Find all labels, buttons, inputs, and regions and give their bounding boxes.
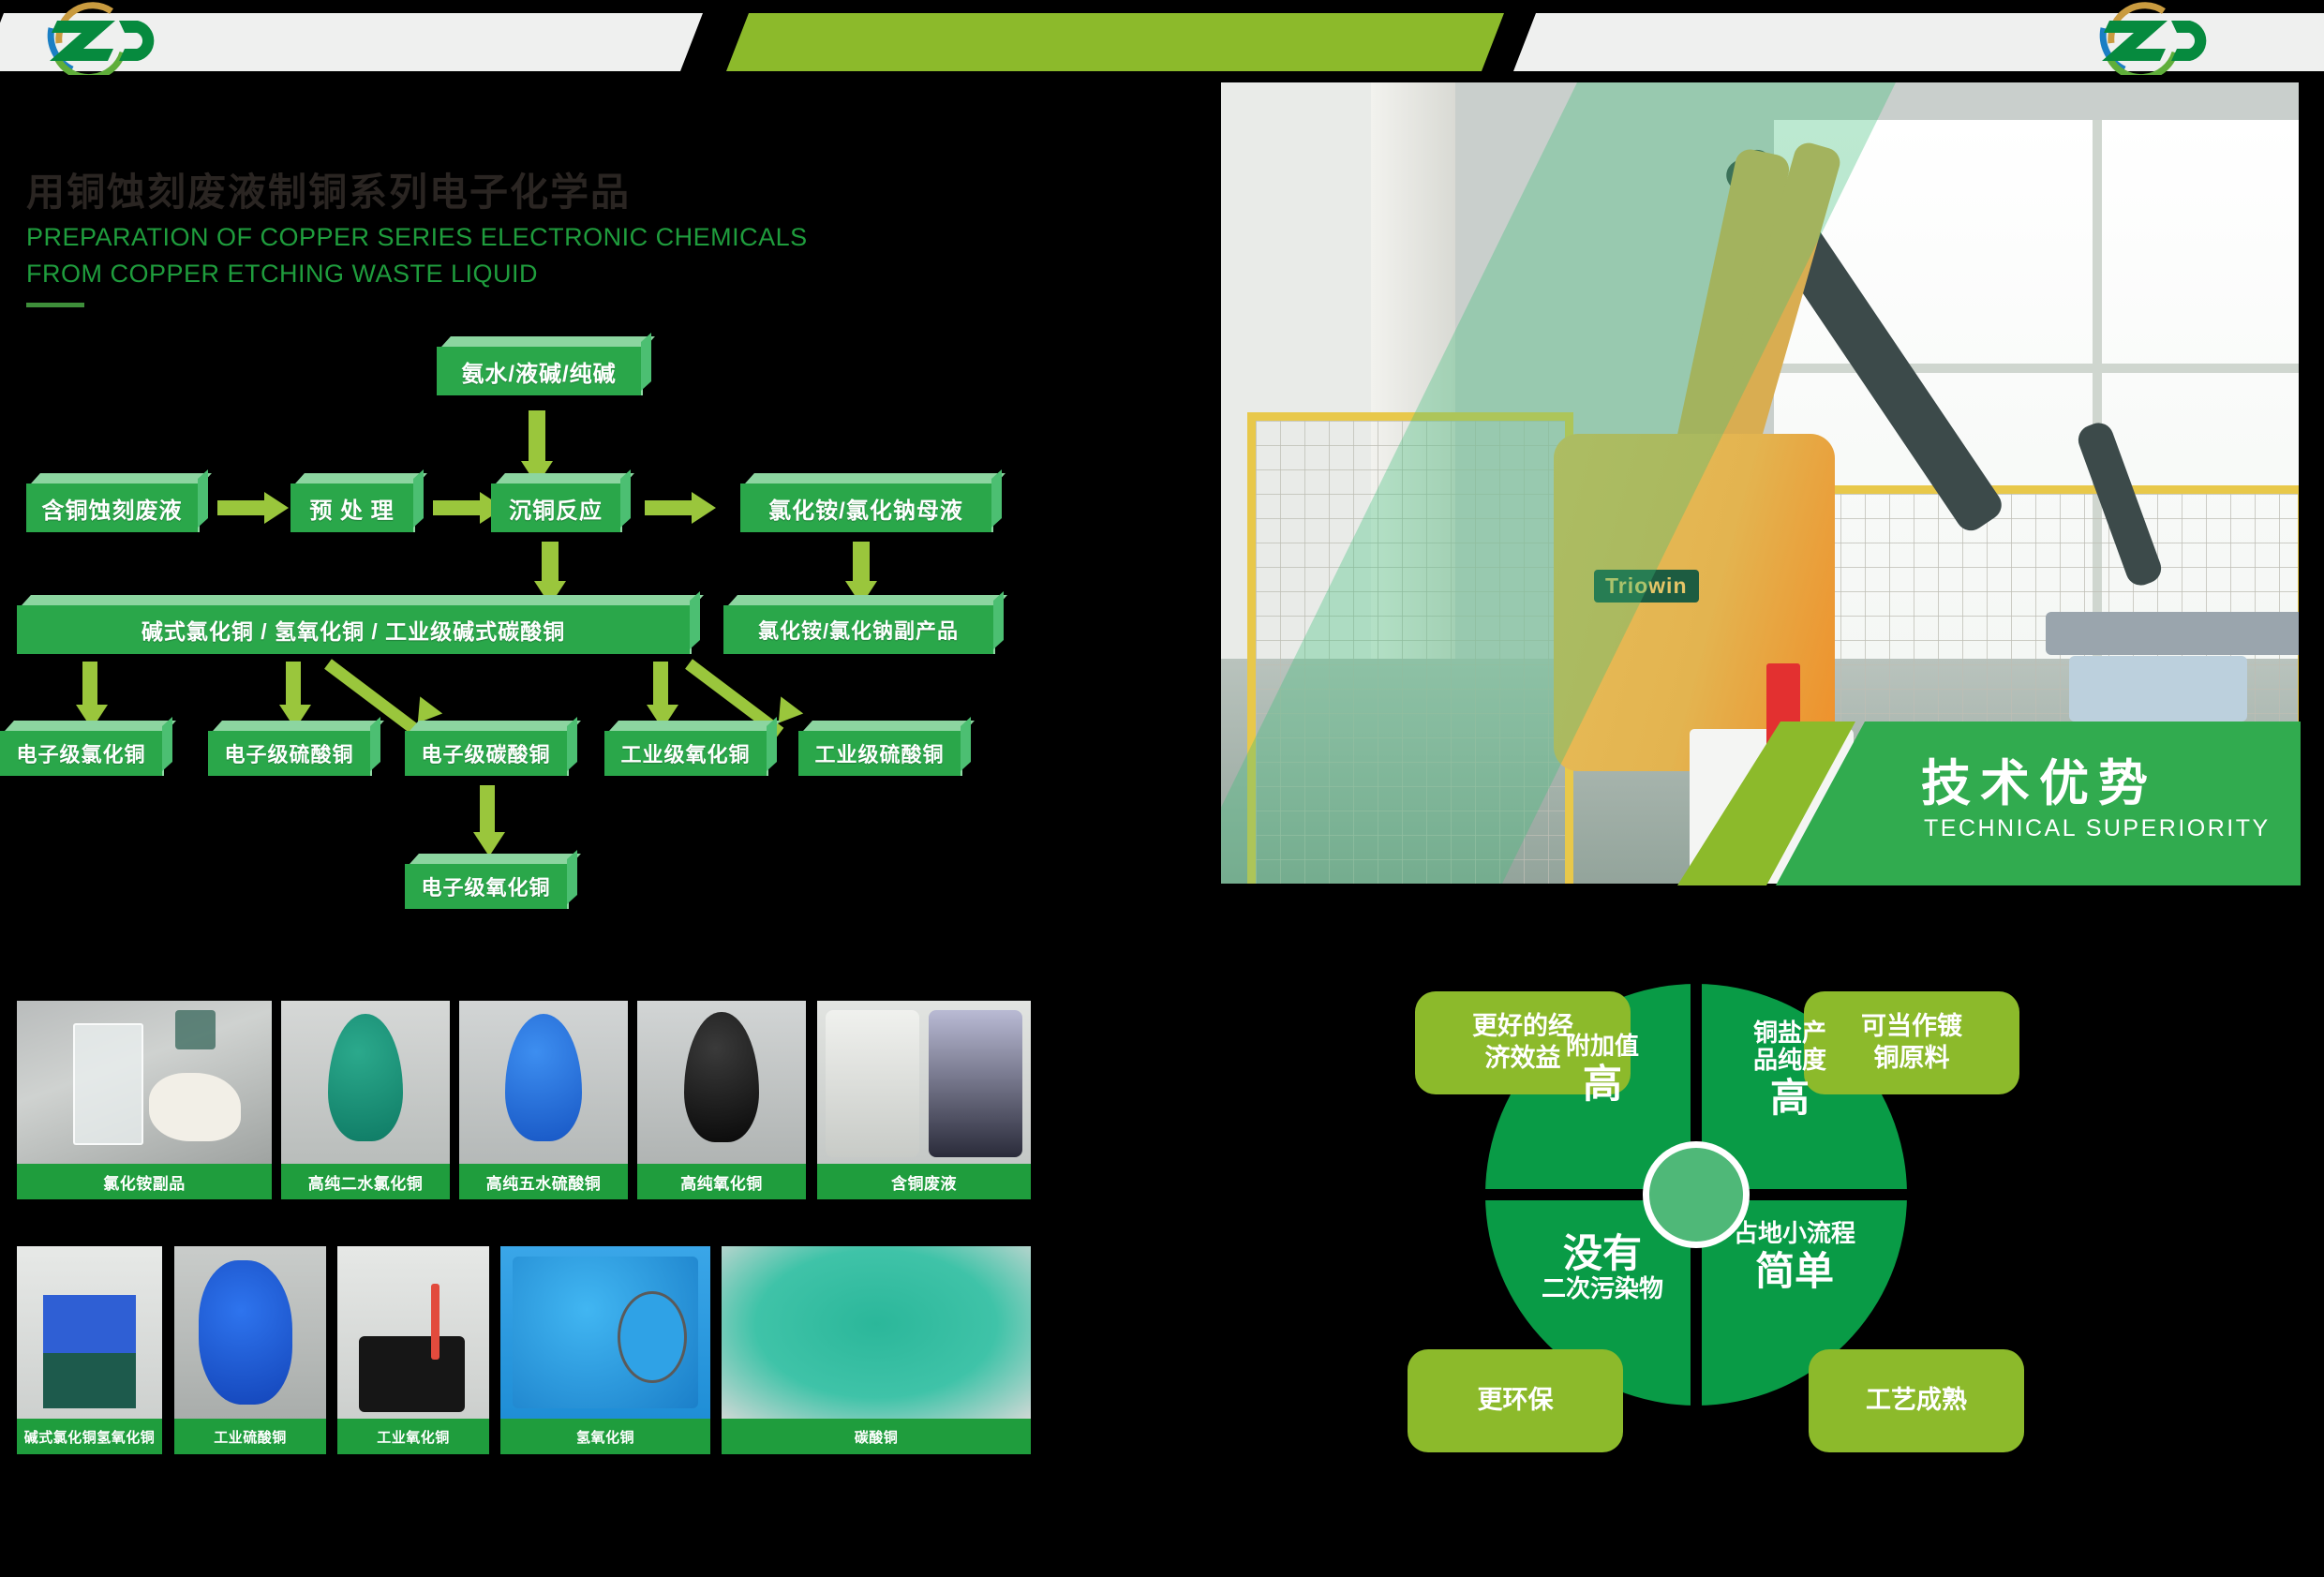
flow-arrowhead-3	[692, 492, 716, 524]
wheel-label-line2: 品纯度	[1710, 1047, 1870, 1074]
product-photo[interactable]: 氢氧化铜	[500, 1246, 710, 1454]
pill-label: 工艺成熟	[1866, 1385, 1967, 1417]
flow-node-i-cuo: 工业级氧化铜	[604, 731, 768, 776]
flow-node-label: 沉铜反应	[509, 492, 603, 525]
product-photo[interactable]: 碱式氯化铜氢氧化铜	[17, 1246, 162, 1454]
flow-node-intermediates: 碱式氯化铜 / 氢氧化铜 / 工业级碱式碳酸铜	[17, 605, 692, 654]
flow-arrow-right-2	[433, 500, 484, 515]
banner-strip-green	[726, 13, 1504, 71]
product-photo[interactable]: 高纯二水氯化铜	[281, 1001, 450, 1199]
flow-node-label: 电子级氯化铜	[16, 738, 145, 768]
title-underline	[26, 303, 84, 307]
product-photo[interactable]: 工业氧化铜	[337, 1246, 489, 1454]
photo-caption: 工业氧化铜	[337, 1419, 489, 1454]
flow-node-label: 电子级氧化铜	[421, 871, 550, 901]
photo-caption: 氯化铵副品	[17, 1164, 272, 1199]
photo-caption: 氢氧化铜	[500, 1419, 710, 1454]
flow-node-pretreatment: 预 处 理	[290, 484, 415, 532]
flow-node-label: 氯化铵/氯化钠副产品	[758, 615, 959, 645]
poster-root: 用铜蚀刻废液制铜系列电子化学品 PREPARATION OF COPPER SE…	[0, 0, 2324, 1577]
product-photo[interactable]: 氯化铵副品	[17, 1001, 272, 1199]
flow-arrowhead-1	[264, 492, 289, 524]
flow-node-label: 电子级硫酸铜	[224, 738, 353, 768]
flow-arrow-right-1	[217, 500, 268, 515]
product-photo[interactable]: 碳酸铜	[722, 1246, 1031, 1454]
top-banner	[0, 13, 2324, 71]
product-photo[interactable]: 工业硫酸铜	[174, 1246, 326, 1454]
photo-image	[174, 1246, 326, 1419]
photo-caption: 高纯氧化铜	[637, 1164, 806, 1199]
photo-caption: 碱式氯化铜氢氧化铜	[17, 1419, 162, 1454]
wheel-label-small-area: 占地小流程 简单	[1710, 1220, 1879, 1293]
flow-node-e-cuo: 电子级氧化铜	[405, 864, 569, 909]
photo-image	[637, 1001, 806, 1164]
photo-image	[500, 1246, 710, 1419]
photo-image	[281, 1001, 450, 1164]
photo-image	[722, 1246, 1031, 1419]
bag-in-gripper	[2069, 656, 2247, 722]
flow-node-label: 含铜蚀刻废液	[42, 492, 183, 525]
flow-arrow-down-precip	[542, 542, 559, 587]
flow-arrow-down-b	[286, 662, 301, 710]
pill-label: 更环保	[1478, 1385, 1554, 1417]
photo-image	[817, 1001, 1031, 1164]
flow-node-label: 氨水/液碱/纯碱	[461, 355, 616, 388]
photo-caption: 高纯五水硫酸铜	[459, 1164, 628, 1199]
wheel-label-salt-purity: 铜盐产 品纯度 高	[1710, 1019, 1870, 1120]
flow-node-byproduct: 氯化铵/氯化钠副产品	[723, 605, 995, 654]
flow-arrow-down-mother	[853, 542, 870, 587]
flow-arrow-right-3	[645, 500, 695, 515]
flow-node-label: 碱式氯化铜 / 氢氧化铜 / 工业级碱式碳酸铜	[142, 614, 565, 646]
product-photo[interactable]: 高纯五水硫酸铜	[459, 1001, 628, 1199]
wheel-label-line1: 铜盐产	[1710, 1019, 1870, 1047]
flow-arrow-down-a	[82, 662, 97, 710]
flow-node-mother-liquor: 氯化铵/氯化钠母液	[740, 484, 993, 532]
page-title-en-line1: PREPARATION OF COPPER SERIES ELECTRONIC …	[26, 222, 926, 253]
page-title-block: 用铜蚀刻废液制铜系列电子化学品 PREPARATION OF COPPER SE…	[26, 169, 926, 307]
photo-image	[17, 1001, 272, 1164]
photo-caption: 工业硫酸铜	[174, 1419, 326, 1454]
pill-eco-friendly[interactable]: 更环保	[1408, 1349, 1623, 1452]
wheel-label-no-pollution: 没有 二次污染物	[1523, 1229, 1682, 1302]
page-title-en-line2: FROM COPPER ETCHING WASTE LIQUID	[26, 259, 926, 290]
photo-image	[459, 1001, 628, 1164]
flow-node-i-cuso4: 工业级硫酸铜	[798, 731, 962, 776]
photo-caption: 高纯二水氯化铜	[281, 1164, 450, 1199]
photo-caption: 碳酸铜	[722, 1419, 1031, 1454]
flow-arrow-down-final	[480, 785, 495, 838]
page-title-cn: 用铜蚀刻废液制铜系列电子化学品	[26, 169, 926, 216]
photo-image	[17, 1246, 162, 1419]
flow-node-e-cucl2: 电子级氯化铜	[0, 731, 164, 776]
process-flowchart: 氨水/液碱/纯碱 含铜蚀刻废液 预 处 理 沉铜反应 氯化铵/氯化钠母液 碱式氯…	[0, 328, 1209, 965]
flow-node-label: 氯化铵/氯化钠母液	[768, 492, 963, 525]
flow-arrow-down-reagent	[529, 410, 545, 465]
flow-arrow-down-c	[653, 662, 668, 710]
tech-title-cn: 技术优势	[1921, 744, 2157, 815]
zd-logo-right	[2085, 0, 2226, 75]
pill-label: 可当作镀铜原料	[1861, 1011, 1962, 1075]
photo-caption: 含铜废液	[817, 1164, 1031, 1199]
pill-mature-process[interactable]: 工艺成熟	[1809, 1349, 2024, 1452]
tech-superiority-banner: 技术优势 TECHNICAL SUPERIORITY	[1776, 722, 2301, 885]
advantages-wheel: 附加值 高 铜盐产 品纯度 高 没有 二次污染物 占地小流程 简单	[1485, 984, 1907, 1406]
flow-node-reagent: 氨水/液碱/纯碱	[437, 347, 643, 395]
flow-node-label: 预 处 理	[309, 492, 394, 525]
product-photo[interactable]: 含铜废液	[817, 1001, 1031, 1199]
photo-image	[337, 1246, 489, 1419]
wheel-label-added-value: 附加值 高	[1523, 1033, 1682, 1106]
robot-gripper-head	[2046, 612, 2299, 655]
flow-node-e-cuso4: 电子级硫酸铜	[208, 731, 372, 776]
flow-node-waste-liquid: 含铜蚀刻废液	[26, 484, 200, 532]
flow-node-label: 工业级氧化铜	[620, 738, 750, 768]
product-photo[interactable]: 高纯氧化铜	[637, 1001, 806, 1199]
flow-node-precipitation: 沉铜反应	[491, 484, 622, 532]
flow-node-label: 电子级碳酸铜	[421, 738, 550, 768]
flow-node-label: 工业级硫酸铜	[814, 738, 944, 768]
tech-title-en: TECHNICAL SUPERIORITY	[1924, 815, 2271, 842]
flow-node-e-cuco3: 电子级碳酸铜	[405, 731, 569, 776]
zd-logo-left	[33, 0, 173, 75]
